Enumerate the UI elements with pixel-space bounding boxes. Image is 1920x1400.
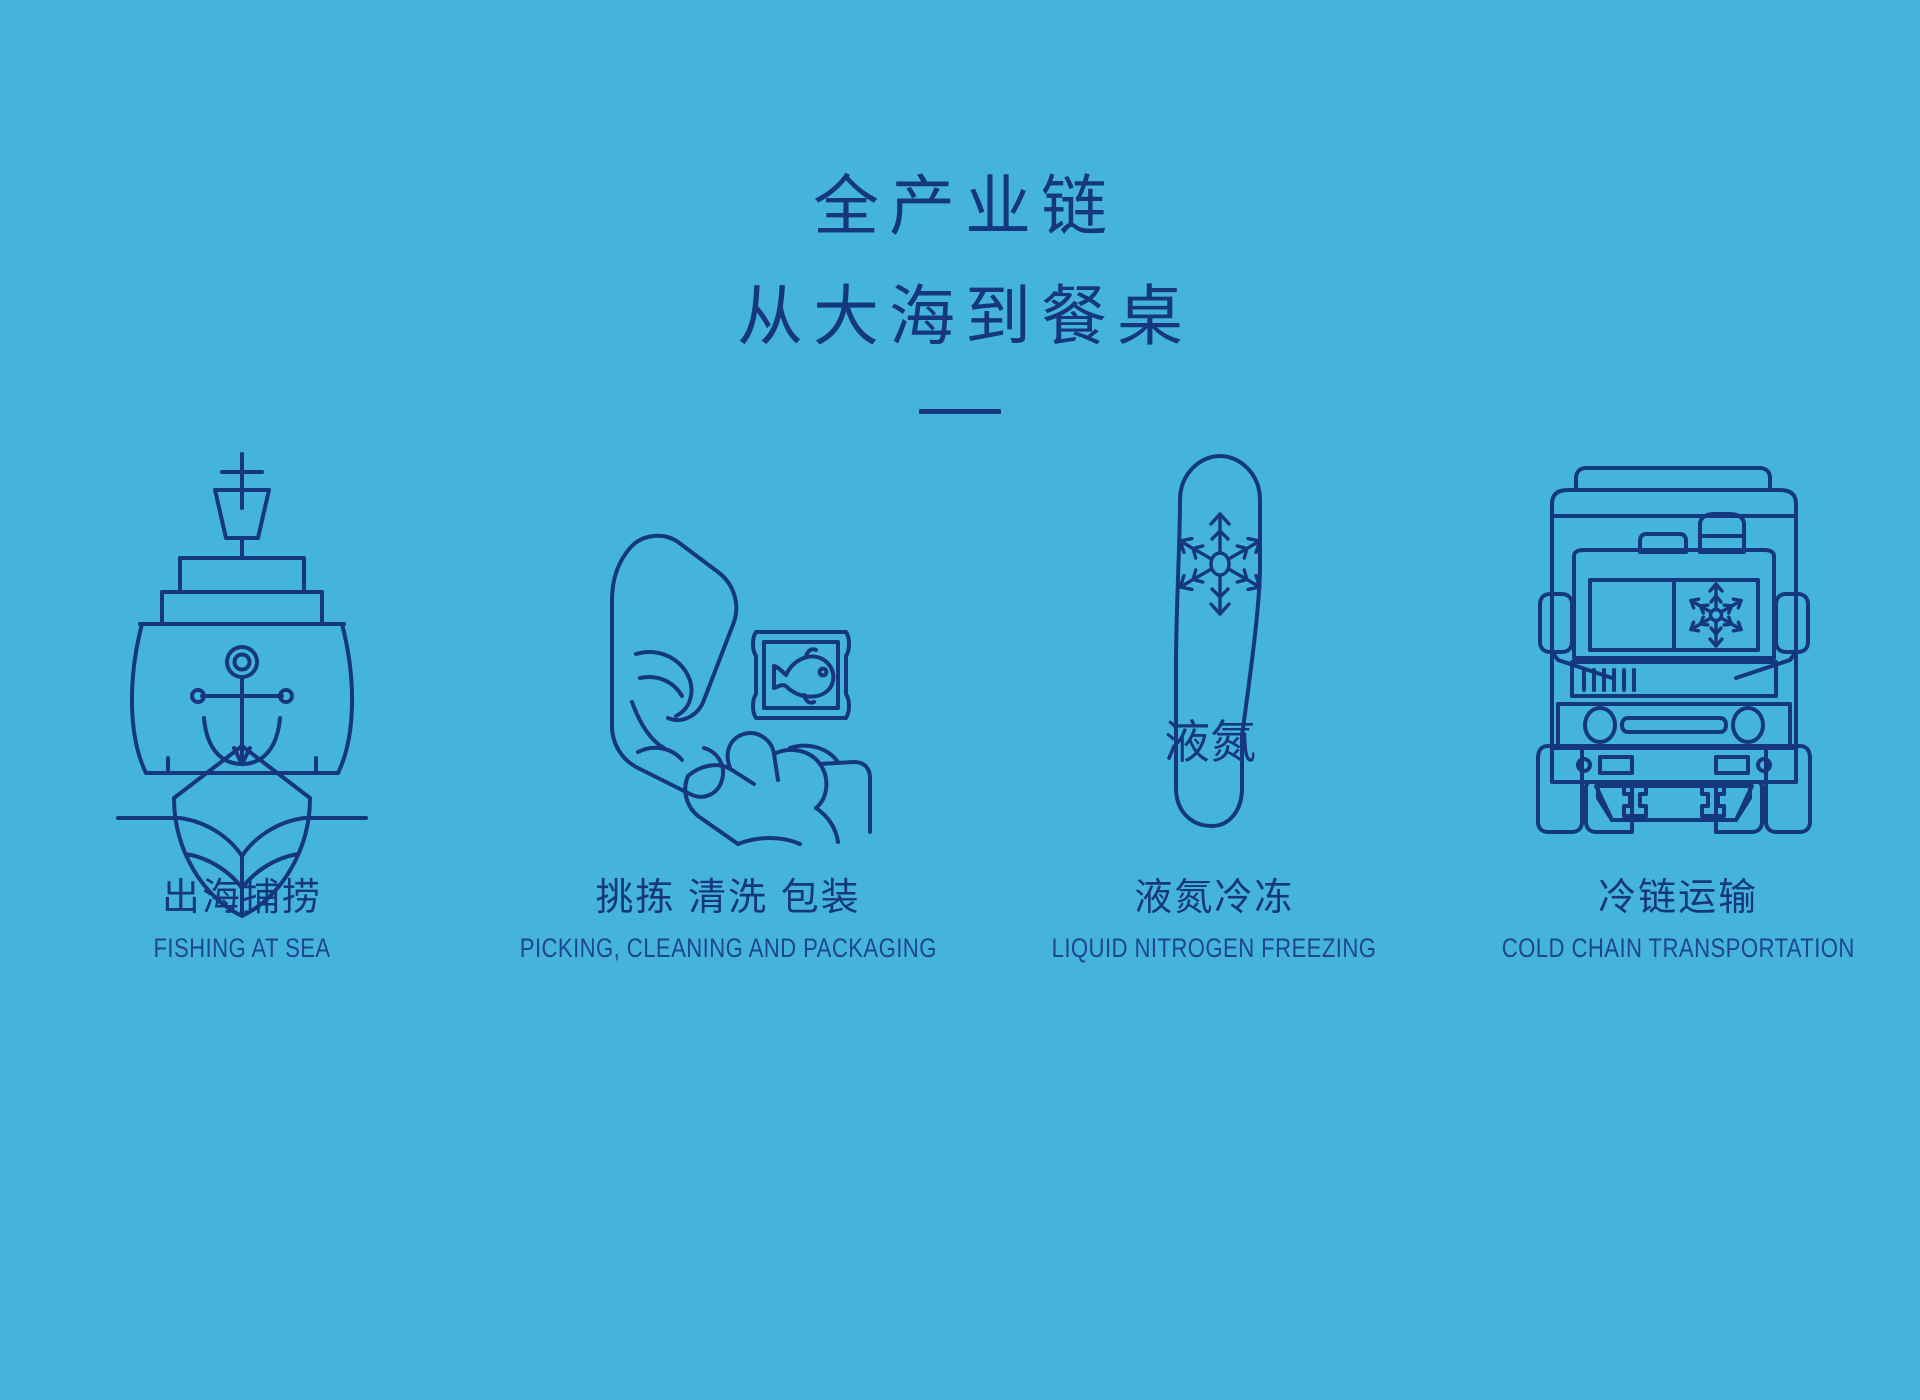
step-label-cn: 液氮冷冻	[1016, 878, 1412, 920]
fishing-boat-icon	[112, 436, 372, 836]
step-label-cn: 挑拣 清洗 包装	[474, 878, 983, 920]
step-label-cn: 出海捕捞	[134, 878, 350, 920]
step-picking-cleaning-packaging: 挑拣 清洗 包装 PICKING, CLEANING AND PACKAGING	[474, 436, 983, 963]
refrigerated-truck-icon	[1528, 436, 1828, 836]
step-labels: 液氮冷冻 LIQUID NITROGEN FREEZING	[1016, 878, 1412, 963]
liquid-nitrogen-tank-icon: 液氮	[1124, 436, 1304, 836]
page-title-primary: 全产业链	[0, 175, 1920, 241]
step-label-en: PICKING, CLEANING AND PACKAGING	[520, 934, 937, 964]
tank-text: 液氮	[1164, 716, 1256, 768]
step-labels: 挑拣 清洗 包装 PICKING, CLEANING AND PACKAGING	[474, 878, 983, 963]
title-divider	[919, 409, 1001, 414]
page-title-secondary: 从大海到餐桌	[0, 285, 1920, 351]
step-label-en: COLD CHAIN TRANSPORTATION	[1502, 934, 1855, 964]
hands-fish-package-icon	[578, 436, 878, 836]
step-label-cn: 冷链运输	[1463, 878, 1894, 920]
step-labels: 出海捕捞 FISHING AT SEA	[134, 878, 350, 963]
step-label-en: LIQUID NITROGEN FREEZING	[1052, 934, 1377, 964]
step-fishing-at-sea: 出海捕捞 FISHING AT SEA	[10, 436, 474, 963]
infographic-page: 全产业链 从大海到餐桌	[0, 0, 1920, 1400]
page-header: 全产业链 从大海到餐桌	[0, 0, 1920, 414]
step-label-en: FISHING AT SEA	[153, 934, 330, 964]
step-liquid-nitrogen-freezing: 液氮 液氮冷冻 LIQUID NITROGEN FREEZING	[982, 436, 1446, 963]
step-cold-chain-transportation: 冷链运输 COLD CHAIN TRANSPORTATION	[1446, 436, 1910, 963]
process-steps-row: 出海捕捞 FISHING AT SEA	[0, 436, 1920, 963]
step-labels: 冷链运输 COLD CHAIN TRANSPORTATION	[1463, 878, 1894, 963]
